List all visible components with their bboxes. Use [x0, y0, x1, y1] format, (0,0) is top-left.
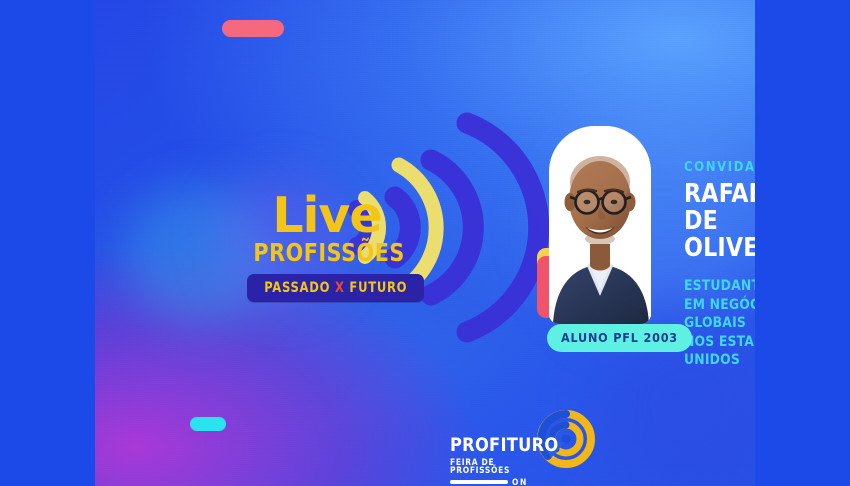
brand-divider: ON LINE — [450, 480, 550, 484]
tagline-badge: PASSADO X FUTURO — [247, 274, 424, 302]
guest-name-line2: DE OLIVEIRA — [684, 208, 755, 262]
guest-role-line3: NOS ESTADOS UNIDOS — [684, 333, 755, 370]
tagline-before: PASSADO — [264, 280, 335, 296]
profituro-brand-lockup: PROFITURO FEIRA DE PROFISSÕES ON LINE — [450, 420, 610, 480]
guest-role: ESTUDANTE DE MBA EM NEGÓCIOS GLOBAIS NOS… — [684, 277, 755, 370]
cyan-pill-left — [190, 417, 226, 431]
student-badge: ALUNO PFL 2003 — [547, 324, 692, 352]
brand-subtitle: FEIRA DE PROFISSÕES — [450, 458, 550, 475]
tagline-after: FUTURO — [345, 280, 408, 296]
profituro-wordmark: PROFITURO FEIRA DE PROFISSÕES ON LINE — [450, 436, 550, 484]
logo-title-live: Live — [247, 193, 407, 239]
tagline-x: X — [335, 280, 345, 296]
guest-kicker-label: CONVIDADO — [684, 160, 755, 175]
brand-divider-bar — [450, 480, 508, 484]
live-profissoes-logo: Live PROFISSÕES PASSADO X FUTURO — [247, 193, 407, 302]
brand-online-label: ON LINE — [512, 477, 550, 486]
guest-role-line2: EM NEGÓCIOS GLOBAIS — [684, 296, 755, 333]
tagline-text: PASSADO X FUTURO — [264, 280, 407, 296]
guest-info-block: CONVIDADO RAFAEL DE OLIVEIRA ESTUDANTE D… — [684, 160, 755, 370]
poster-canvas: Live PROFISSÕES PASSADO X FUTURO — [0, 0, 850, 486]
guest-portrait — [535, 126, 657, 331]
logo-title-profissoes: PROFISSÕES — [253, 240, 400, 265]
right-border-plate — [755, 0, 850, 486]
student-badge-label: ALUNO PFL 2003 — [561, 330, 678, 345]
brand-name: PROFITURO — [450, 436, 545, 455]
guest-name: RAFAEL DE OLIVEIRA — [684, 181, 755, 262]
portrait-white-frame — [549, 126, 651, 324]
guest-role-line1: ESTUDANTE DE MBA — [684, 277, 755, 296]
guest-photo — [549, 126, 651, 324]
poster-artboard: Live PROFISSÕES PASSADO X FUTURO — [95, 0, 755, 486]
guest-name-line1: RAFAEL — [684, 181, 755, 208]
left-border-plate — [0, 0, 95, 486]
pink-pill-top — [222, 20, 284, 37]
